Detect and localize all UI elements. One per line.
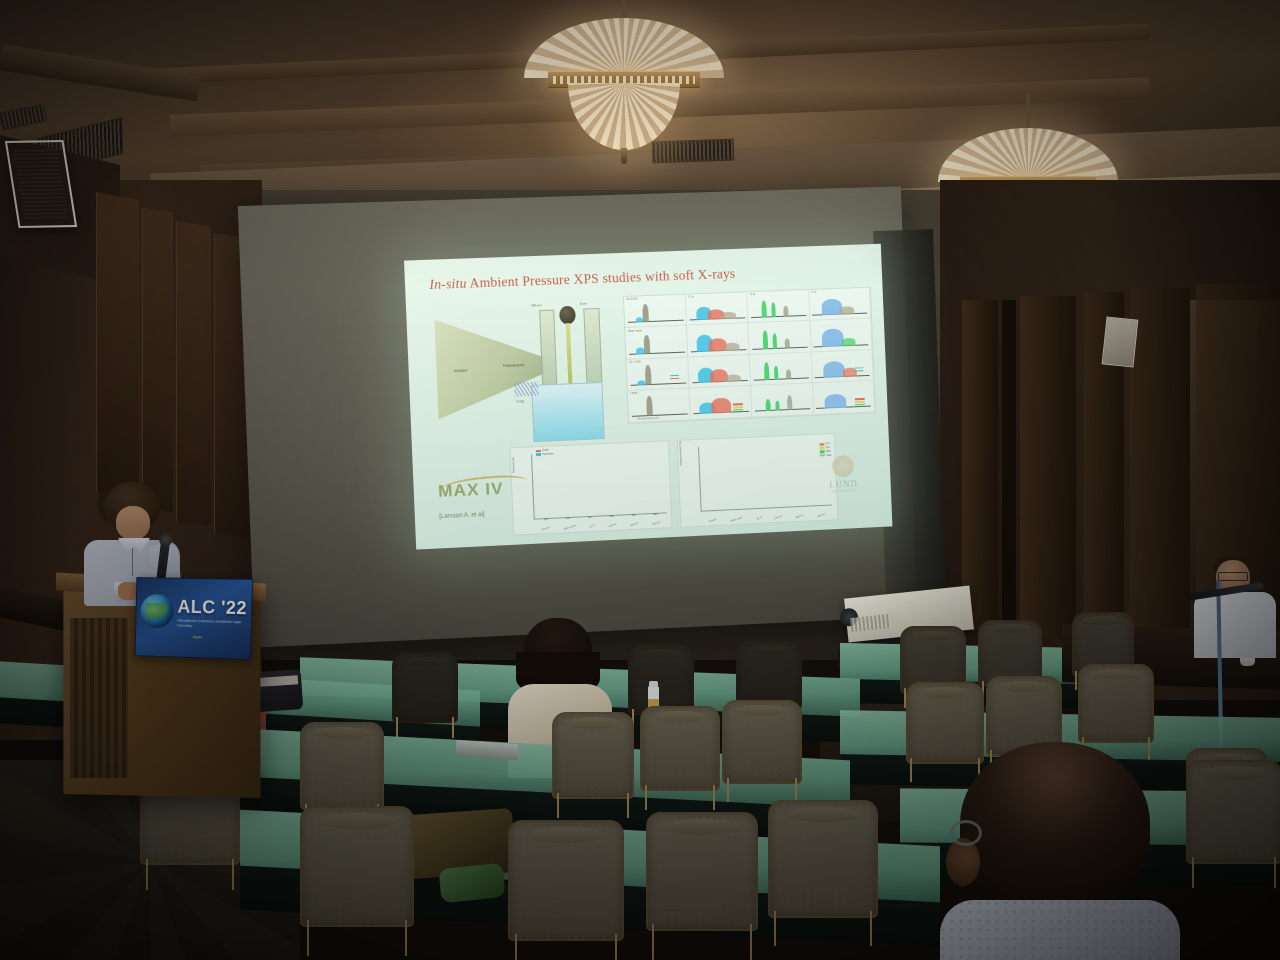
chart-bar-segment (794, 506, 806, 507)
chart2-ylabel: Relative intensity (%) (679, 442, 683, 466)
chart-bar-segment (794, 506, 806, 507)
spectrum-peak (721, 311, 737, 319)
chair (392, 652, 454, 738)
wood-wall-panel (96, 192, 139, 500)
head (960, 742, 1150, 912)
spectrum-cell (687, 323, 750, 357)
schematic-aperture-bar (539, 310, 558, 387)
chart1-legend-entry: Oxide (542, 449, 549, 452)
chart-value-label: 10.1 (653, 513, 658, 516)
spectrum-peak (824, 394, 846, 409)
bottle-cap (649, 681, 658, 687)
conference-room-photo: In-situ Ambient Pressure XPS studies wit… (0, 0, 1280, 960)
spectrum-cell (749, 321, 811, 355)
green-pouch (438, 863, 505, 904)
spectrum-peak (821, 328, 843, 346)
slide-citation: [Larsson A. et al] (439, 512, 485, 520)
conference-subtitle: International Conference on\nAtomic Laye… (177, 619, 247, 630)
chart-bar: 8.0 (606, 515, 618, 516)
spectrum-legend (733, 403, 749, 412)
chart-bar-segment (772, 507, 784, 508)
liquid-cell-region (531, 382, 605, 442)
spectrum-cell (750, 352, 812, 386)
chart-category-label: 900 mV (817, 513, 826, 518)
chart-bar (794, 506, 806, 507)
lectern-slats (70, 618, 128, 778)
spectrum-peak (723, 342, 739, 350)
slide-title-italic: In-situ (429, 276, 467, 292)
spectrum-cell: C 1s (809, 288, 871, 321)
chart-category-label: 600 mV (630, 522, 639, 527)
lectern-conference-sign: ALC '22 International Conference on\nAto… (135, 577, 253, 660)
slide-schematic-diagram: Analyzer Photoelectrons X-ray 500 µm 5 µ… (430, 302, 609, 447)
spectrum-curve (750, 294, 806, 318)
chart-bar-segment (750, 508, 762, 509)
chart-bar: 5.3 (540, 518, 552, 519)
audience-member-foreground (940, 742, 1180, 960)
spectrum-cell (811, 350, 873, 384)
spectrum-cell (813, 381, 875, 415)
chart-bar-segment (707, 510, 719, 511)
chair (722, 700, 798, 802)
analyzer-label: Analyzer (454, 368, 468, 373)
chart2-plot-area (698, 441, 831, 512)
spectrum-curve (753, 356, 809, 380)
spectrum-cell: Water vapor (625, 326, 688, 360)
glasses-icon (1218, 572, 1248, 581)
spectrum-peak (764, 363, 770, 381)
chart-bar-segment (815, 505, 827, 506)
chart-bar-segment: 5.2 (584, 516, 596, 517)
wood-column (962, 300, 998, 630)
chart-bar (729, 509, 741, 510)
slide-title-rest: Ambient Pressure XPS studies with soft X… (466, 266, 735, 291)
spectrum-peak (842, 338, 855, 346)
chart-bar-segment: 9.8 (628, 513, 640, 514)
chart-value-label: 6.5 (566, 517, 569, 520)
spectrum-peak (783, 306, 789, 317)
chart-category-label: 600 mV (796, 514, 805, 519)
chart-bar-segment: 8.0 (606, 515, 618, 516)
torso (1194, 592, 1276, 658)
maxiv-logo: MAX IV (438, 478, 532, 508)
chart-bar-segment (772, 507, 784, 508)
globe-icon (140, 594, 174, 628)
chart-value-label: 9.8 (632, 514, 635, 517)
spectrum-curve (751, 325, 807, 349)
spectrum-peak (636, 317, 644, 322)
chart-bar-segment (729, 509, 741, 510)
chart-bar (772, 507, 784, 508)
chair (646, 812, 754, 960)
spectrum-legend (670, 374, 686, 383)
chart-bar (707, 510, 719, 511)
chair (640, 706, 716, 810)
spectrum-peak (711, 398, 731, 414)
chart-category-label: 100 mV (774, 515, 783, 520)
schematic-dimension-left: 500 µm (531, 303, 541, 307)
chart1-category-labels: VacuumWater vaporO2 P100 mV600 mV900 mV (534, 521, 667, 530)
spectrum-xaxis-label: Binding Energy (eV) (638, 417, 659, 421)
chart-value-label: 8.0 (610, 515, 613, 518)
chart-bar: 5.2 (584, 516, 596, 517)
spectrum-cell (751, 383, 813, 417)
chair (300, 806, 410, 956)
chart1-ylabel: Thickness (Å) (512, 458, 516, 474)
presentation-slide: In-situ Ambient Pressure XPS studies wit… (404, 244, 892, 550)
wood-wall-panel (176, 222, 211, 527)
spectrum-peak (765, 399, 770, 411)
chart-category-label: 900 mV (652, 521, 661, 526)
chart-category-label: Vacuum (708, 518, 717, 524)
chart-category-label: Vacuum (541, 526, 550, 532)
spectrum-cell (689, 355, 752, 389)
projector-vent (850, 614, 891, 632)
chart-value-label: 5.3 (544, 518, 547, 521)
chair (508, 820, 620, 960)
chart-category-label: Water vapor (730, 516, 743, 523)
sample-rod (566, 323, 572, 384)
spectrum-legend (854, 367, 870, 375)
xps-spectra-grid: Rh 3d 5/2 O 1s N 1s C 1s (623, 287, 876, 424)
chart-bar-segment (707, 510, 719, 511)
chart-bar: 10.1 (650, 512, 662, 513)
chart-bar-segment (794, 506, 806, 507)
air-vent-icon (652, 139, 735, 164)
chart-bar-segment (750, 508, 762, 509)
chart-bar-segment (772, 507, 784, 508)
spectrum-curve (631, 393, 688, 418)
chart-bar-segment (729, 509, 741, 510)
chart-bar: 9.8 (628, 513, 640, 514)
chart-bar-segment (815, 505, 827, 506)
lund-seal-icon (832, 455, 854, 478)
wood-column (1130, 288, 1190, 638)
xray-beam-wave (514, 382, 539, 397)
schematic-dimension-right: 5 µm (580, 302, 587, 306)
spectrum-cell: O 1s (686, 292, 749, 326)
chart-category-label: O2 P (756, 516, 762, 521)
chart-value-label: 5.2 (588, 516, 591, 519)
glasses-icon (950, 820, 982, 846)
stacked-bar-chart-composition: Relative intensity (%) O 2- OH - H2O Tot… (677, 433, 838, 528)
chart-bar-segment: 5.3 (540, 518, 552, 519)
spectrum-cell: Rh 3d 5/2 (624, 294, 687, 328)
chart-bar-segment: 6.5 (562, 517, 574, 518)
spectrum-peak (822, 361, 844, 378)
chart-bar-segment: 10.1 (650, 512, 662, 513)
spectrum-legend (855, 398, 871, 407)
spectrum-peak (839, 306, 854, 314)
chair (1186, 760, 1278, 888)
chart-bar-segment (707, 510, 719, 511)
wood-column (1020, 296, 1076, 636)
stacked-bar-chart-thickness: Thickness (Å) Oxide Hydroxide 5.36.55.28… (509, 440, 673, 535)
torso (940, 900, 1180, 960)
chart-category-label: O2 P (589, 524, 595, 529)
spectrum-cell: Liquid Binding Energy (eV) (628, 389, 691, 423)
chart1-plot-area: 5.36.55.28.09.810.1 (531, 448, 666, 519)
wall-speaker (1102, 316, 1139, 367)
spectrum-peak (724, 374, 740, 382)
spectrum-cell: N 1s (747, 290, 809, 324)
spectrum-curve (754, 387, 810, 412)
chart-bar (815, 505, 827, 506)
chart-bar: 6.5 (562, 517, 574, 518)
chart-bar-segment (815, 505, 827, 506)
conference-name: ALC '22 (177, 597, 247, 620)
chart-category-label: Water vapor (563, 524, 576, 531)
xray-label: X-ray (516, 399, 524, 403)
sample-disc (559, 306, 575, 324)
spectrum-peak (761, 301, 767, 318)
chart-bar-segment (729, 509, 741, 510)
schematic-aperture-bar (584, 308, 603, 385)
chair (768, 800, 874, 946)
spectrum-peak (636, 348, 645, 354)
wood-wall-panel (142, 208, 173, 513)
spectrum-peak (637, 380, 646, 386)
session-chair-person (1190, 556, 1280, 666)
spectrum-peak (784, 339, 790, 348)
conference-note: Japan (192, 635, 202, 639)
chair (552, 712, 630, 818)
spectrum-cell: O2 + H2O (627, 357, 690, 391)
analyzer-cone-shape (434, 316, 546, 420)
spectrum-cell (690, 386, 753, 420)
wood-column (1002, 300, 1016, 630)
chart2-category-labels: VacuumWater vaporO2 P100 mV600 mV900 mV (701, 513, 832, 522)
chart-category-label: 100 mV (608, 523, 617, 529)
spectrum-peak (762, 330, 768, 349)
chart-bar (750, 508, 762, 509)
lund-university-logo: LUND UNIVERSITY (814, 454, 872, 498)
spectrum-cell (810, 319, 872, 353)
chart-bar-segment (750, 508, 762, 509)
